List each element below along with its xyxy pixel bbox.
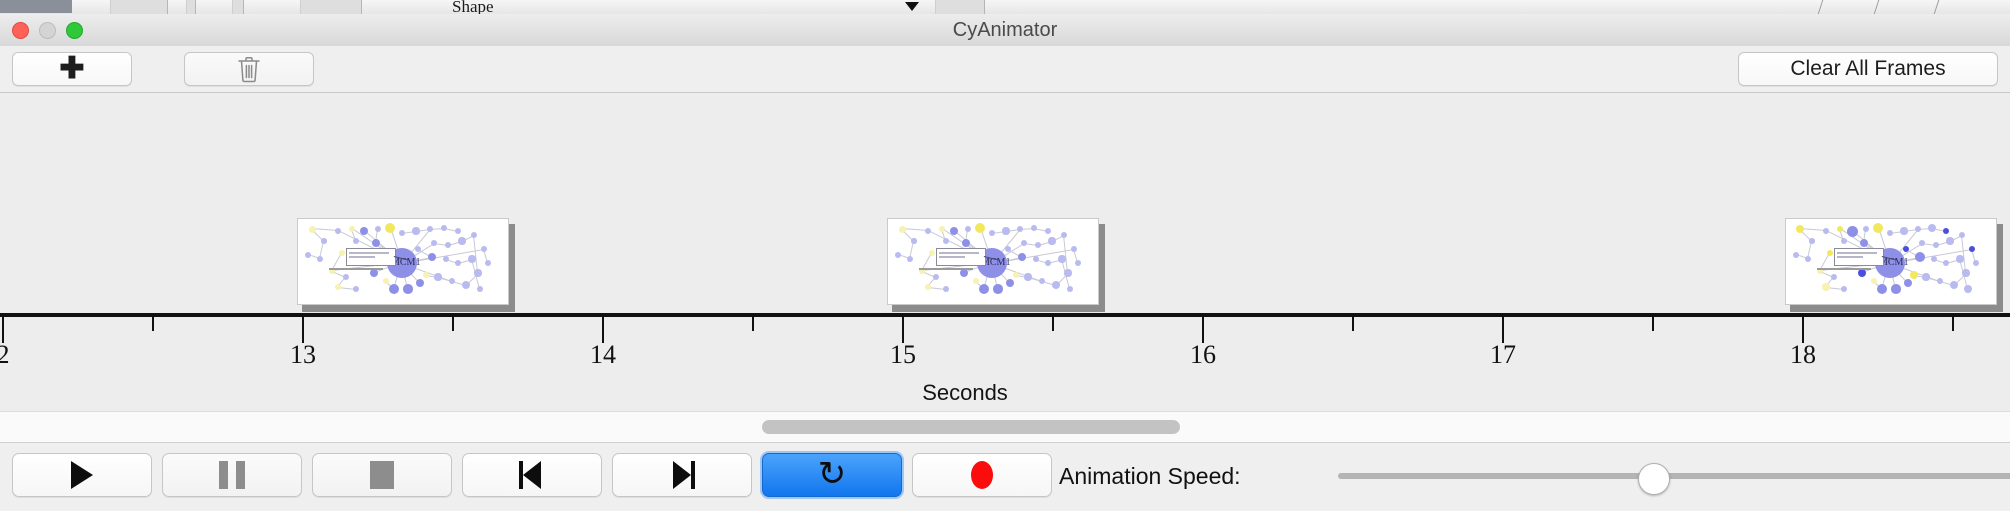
pause-icon bbox=[219, 461, 245, 489]
network-node bbox=[1071, 246, 1078, 253]
network-node bbox=[481, 246, 488, 253]
network-node bbox=[895, 252, 902, 259]
network-node bbox=[1052, 281, 1060, 289]
network-node bbox=[1863, 226, 1869, 232]
background-divider bbox=[1818, 0, 1824, 14]
skip-backward-icon bbox=[517, 461, 547, 489]
network-node bbox=[445, 242, 451, 248]
background-window[interactable]: Shape bbox=[0, 0, 2010, 15]
network-node bbox=[1877, 284, 1887, 294]
ruler-tick-minor bbox=[152, 317, 154, 331]
network-node bbox=[993, 284, 1003, 294]
network-caption bbox=[1817, 268, 1871, 270]
skip-forward-icon bbox=[667, 461, 697, 489]
background-chip bbox=[935, 0, 985, 14]
network-node bbox=[462, 281, 470, 289]
network-node bbox=[939, 226, 945, 232]
network-node bbox=[911, 238, 916, 243]
ruler-tick-label: 15 bbox=[873, 340, 933, 370]
network-node bbox=[929, 250, 935, 256]
network-node bbox=[943, 238, 949, 244]
background-caret-icon bbox=[905, 2, 919, 11]
network-node bbox=[375, 226, 381, 232]
background-window-label: Shape bbox=[452, 0, 494, 15]
network-node bbox=[979, 284, 989, 294]
animation-speed-slider[interactable] bbox=[1338, 473, 2010, 479]
network-node bbox=[1919, 240, 1925, 246]
background-window-titlechip bbox=[0, 0, 72, 13]
network-node bbox=[455, 228, 461, 234]
stop-icon bbox=[370, 461, 394, 489]
network-caption bbox=[329, 268, 383, 270]
network-node bbox=[1943, 228, 1949, 234]
network-node bbox=[933, 274, 939, 280]
network-node bbox=[960, 269, 968, 277]
network-node bbox=[1058, 255, 1065, 262]
frame-network-preview: MCM1 bbox=[297, 218, 509, 305]
network-node bbox=[1837, 226, 1843, 232]
network-node bbox=[1858, 269, 1866, 277]
ruler-tick-minor bbox=[1952, 317, 1954, 331]
network-node bbox=[1822, 283, 1830, 291]
network-node bbox=[1039, 278, 1045, 284]
loop-button[interactable]: ↻ bbox=[762, 453, 902, 497]
network-node bbox=[1873, 223, 1883, 233]
network-node bbox=[485, 260, 491, 266]
trash-icon bbox=[237, 56, 261, 83]
network-node bbox=[1959, 232, 1965, 238]
network-node bbox=[1841, 238, 1847, 244]
network-node bbox=[1064, 269, 1071, 276]
network-node bbox=[370, 269, 378, 277]
network-node bbox=[1928, 224, 1937, 233]
network-node bbox=[1048, 237, 1055, 244]
network-node bbox=[975, 223, 985, 233]
network-node bbox=[349, 226, 355, 232]
network-node bbox=[372, 239, 380, 247]
network-node bbox=[428, 253, 436, 261]
network-tooltip-text bbox=[939, 252, 979, 254]
axis-title-label: Seconds bbox=[922, 380, 1008, 405]
network-node bbox=[403, 284, 413, 294]
loop-icon: ↻ bbox=[818, 457, 847, 491]
network-tooltip-text bbox=[939, 256, 965, 258]
network-node bbox=[899, 226, 906, 233]
network-node bbox=[1031, 225, 1038, 232]
network-node bbox=[1002, 227, 1009, 234]
ruler-tick-label: 14 bbox=[573, 340, 633, 370]
network-node bbox=[965, 226, 971, 232]
ruler-tick-label: 13 bbox=[273, 340, 333, 370]
network-node bbox=[389, 284, 399, 294]
network-tooltip-text bbox=[1837, 256, 1863, 258]
network-node bbox=[309, 226, 316, 233]
network-node bbox=[427, 226, 433, 232]
cyanimator-window: Shape CyAnimator ✚ Clear All Frames bbox=[0, 0, 2010, 510]
pause-button[interactable] bbox=[162, 453, 302, 497]
network-node bbox=[471, 232, 477, 238]
network-node bbox=[335, 228, 341, 234]
network-node bbox=[416, 279, 424, 287]
network-node bbox=[353, 286, 359, 292]
ruler-tick-label: 17 bbox=[1473, 340, 1533, 370]
network-node bbox=[1887, 230, 1893, 236]
network-node bbox=[1964, 285, 1972, 293]
network-node bbox=[1827, 250, 1833, 256]
ruler-tick-label: 16 bbox=[1173, 340, 1233, 370]
add-frame-button[interactable]: ✚ bbox=[12, 52, 132, 86]
frame-thumbnail[interactable]: MCM1 bbox=[297, 218, 510, 306]
network-node bbox=[1931, 256, 1938, 263]
network-node bbox=[1915, 252, 1925, 262]
ruler-tick-minor bbox=[452, 317, 454, 331]
ruler-tick-minor bbox=[1352, 317, 1354, 331]
ruler-tick-label: 2 bbox=[0, 340, 33, 370]
network-node bbox=[1805, 256, 1811, 262]
network-node bbox=[1950, 281, 1958, 289]
record-button[interactable] bbox=[912, 453, 1052, 497]
network-node bbox=[1969, 246, 1976, 253]
network-node bbox=[1831, 274, 1837, 280]
scrollbar-thumb[interactable] bbox=[762, 420, 1180, 434]
network-node bbox=[1035, 242, 1041, 248]
skip-forward-button[interactable] bbox=[612, 453, 752, 497]
network-node bbox=[1910, 271, 1919, 280]
network-node bbox=[1933, 242, 1939, 248]
network-node bbox=[443, 256, 450, 263]
network-tooltip-text bbox=[1837, 252, 1877, 254]
ruler-tick-label: 18 bbox=[1773, 340, 1833, 370]
network-node bbox=[458, 237, 465, 244]
network-node bbox=[1061, 232, 1067, 238]
network-node bbox=[343, 274, 349, 280]
frame-network-preview: MCM1 bbox=[887, 218, 1099, 305]
delete-frame-button[interactable] bbox=[184, 52, 314, 86]
network-node bbox=[1922, 273, 1929, 280]
network-node bbox=[1075, 260, 1081, 266]
network-node bbox=[1809, 238, 1814, 243]
network-node bbox=[1017, 226, 1023, 232]
window-title: CyAnimator bbox=[0, 14, 2010, 46]
network-node bbox=[477, 286, 483, 292]
network-node bbox=[1860, 239, 1868, 247]
network-node bbox=[455, 260, 462, 267]
network-node bbox=[943, 286, 949, 292]
clear-all-frames-button[interactable]: Clear All Frames bbox=[1738, 52, 1998, 86]
network-node bbox=[1067, 286, 1073, 292]
horizontal-scrollbar[interactable] bbox=[0, 411, 2010, 443]
network-node bbox=[1973, 260, 1979, 266]
network-node bbox=[1962, 269, 1969, 276]
network-node bbox=[423, 272, 430, 279]
network-node bbox=[434, 273, 441, 280]
background-divider bbox=[1874, 0, 1880, 14]
title-bar[interactable]: CyAnimator bbox=[0, 14, 2010, 47]
animation-speed-slider-thumb[interactable] bbox=[1638, 463, 1670, 495]
frame-network-preview: MCM1 bbox=[1785, 218, 1997, 305]
network-node bbox=[412, 227, 419, 234]
network-node bbox=[1045, 260, 1052, 267]
network-node bbox=[441, 225, 448, 232]
network-node bbox=[1021, 240, 1027, 246]
network-node bbox=[1946, 237, 1953, 244]
network-node bbox=[468, 255, 475, 262]
network-node bbox=[1937, 278, 1943, 284]
network-caption bbox=[919, 268, 973, 270]
frame-thumbnail[interactable]: MCM1 bbox=[887, 218, 1100, 306]
network-node bbox=[1045, 228, 1051, 234]
network-node bbox=[1018, 253, 1026, 261]
network-node bbox=[989, 230, 995, 236]
network-node bbox=[1013, 272, 1020, 279]
network-node bbox=[1956, 255, 1963, 262]
network-node bbox=[1823, 228, 1829, 234]
network-node bbox=[1915, 226, 1921, 232]
network-node bbox=[449, 278, 455, 284]
background-chip bbox=[232, 0, 244, 14]
network-node bbox=[1006, 279, 1014, 287]
network-node bbox=[907, 256, 913, 262]
network-node bbox=[925, 228, 931, 234]
plus-icon: ✚ bbox=[59, 54, 84, 84]
network-node bbox=[1900, 227, 1907, 234]
background-divider bbox=[1934, 0, 1940, 14]
network-node bbox=[1024, 273, 1031, 280]
network-node bbox=[317, 256, 323, 262]
network-node bbox=[339, 250, 345, 256]
network-node bbox=[321, 238, 326, 243]
network-node bbox=[1943, 260, 1950, 267]
network-node bbox=[385, 223, 395, 233]
network-node bbox=[1847, 226, 1858, 237]
network-node bbox=[1904, 279, 1912, 287]
network-node bbox=[1841, 286, 1847, 292]
play-icon bbox=[71, 461, 93, 489]
ruler-tick-minor bbox=[752, 317, 754, 331]
toolbar: ✚ Clear All Frames bbox=[0, 46, 2010, 93]
network-node bbox=[1891, 284, 1901, 294]
network-node bbox=[335, 284, 341, 290]
frame-thumbnail[interactable]: MCM1 bbox=[1785, 218, 1998, 306]
network-node bbox=[474, 269, 481, 276]
background-chip bbox=[186, 0, 196, 14]
network-node bbox=[1033, 256, 1040, 263]
background-chip bbox=[110, 0, 168, 14]
animation-speed-label: Animation Speed: bbox=[1059, 442, 1241, 510]
network-node bbox=[353, 238, 359, 244]
network-node bbox=[431, 240, 437, 246]
network-tooltip-text bbox=[349, 256, 375, 258]
network-node bbox=[399, 230, 405, 236]
record-icon bbox=[971, 461, 993, 489]
network-node bbox=[962, 239, 970, 247]
network-node bbox=[1793, 252, 1800, 259]
ruler-tick-minor bbox=[1652, 317, 1654, 331]
stop-button[interactable] bbox=[312, 453, 452, 497]
axis-title: Seconds bbox=[0, 380, 2010, 406]
background-chip bbox=[300, 0, 362, 14]
skip-backward-button[interactable] bbox=[462, 453, 602, 497]
network-node bbox=[305, 252, 312, 259]
network-tooltip-text bbox=[349, 252, 389, 254]
ruler-tick-minor bbox=[1052, 317, 1054, 331]
network-node bbox=[925, 284, 931, 290]
play-button[interactable] bbox=[12, 453, 152, 497]
